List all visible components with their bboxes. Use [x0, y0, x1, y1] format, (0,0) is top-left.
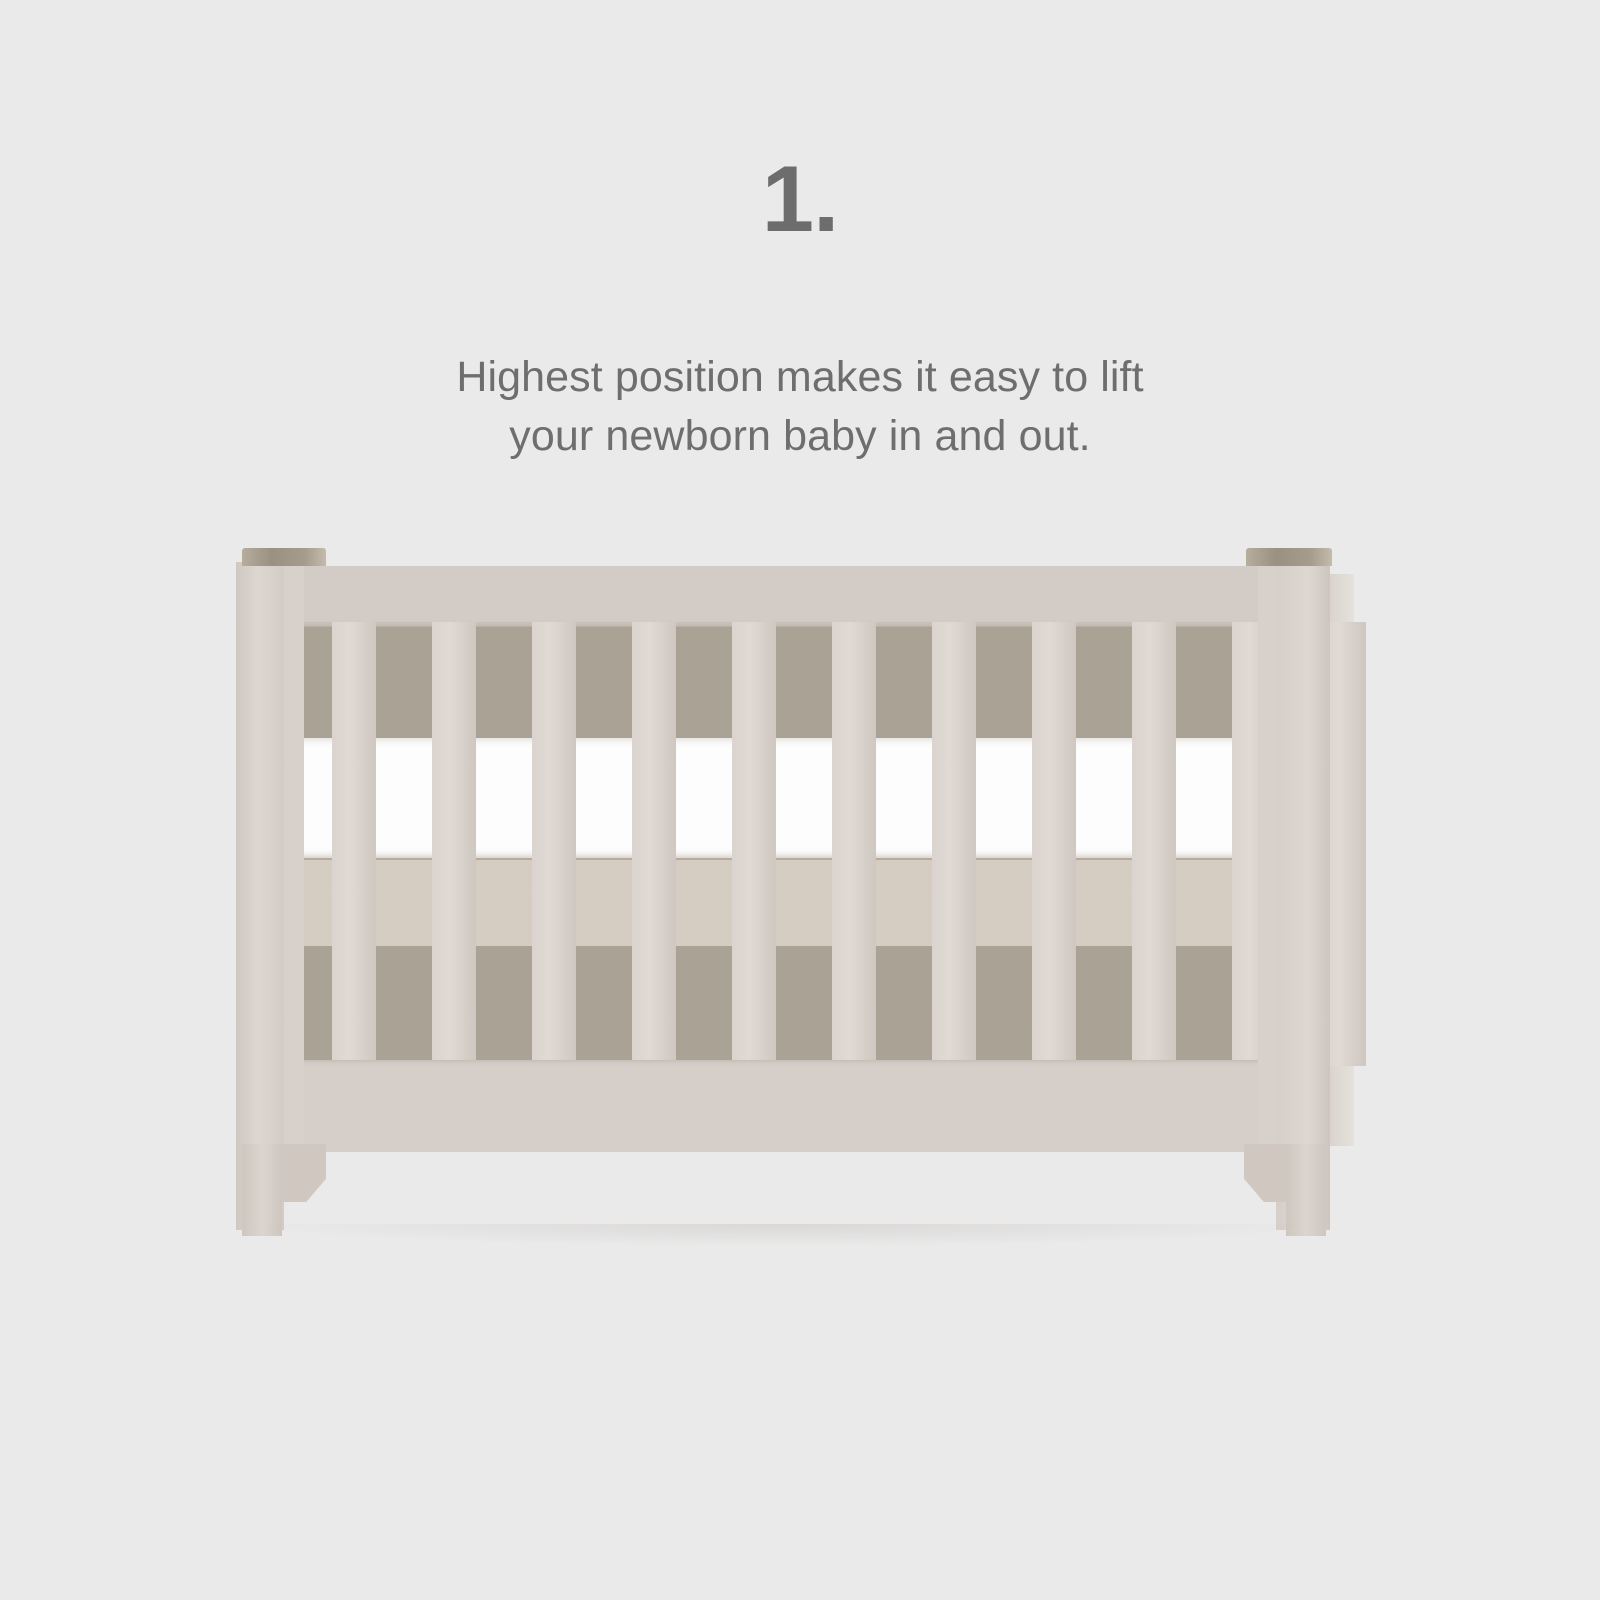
right-leg	[1286, 1144, 1326, 1236]
floor-shadow	[246, 1224, 1326, 1246]
front-slat	[1132, 622, 1176, 1066]
left-foot-bracket	[282, 1144, 326, 1202]
left-leg	[242, 1144, 282, 1236]
left-inner-rail	[284, 566, 304, 1152]
front-slat	[732, 622, 776, 1066]
front-slat	[432, 622, 476, 1066]
top-rail	[250, 566, 1325, 626]
caption-line-2: your newborn baby in and out.	[0, 407, 1600, 466]
front-slat	[632, 622, 676, 1066]
caption-line-1: Highest position makes it easy to lift	[0, 348, 1600, 407]
right-foot-bracket	[1244, 1144, 1288, 1202]
front-slat	[1032, 622, 1076, 1066]
step-caption: Highest position makes it easy to lift y…	[0, 348, 1600, 467]
right-inner-rail	[1258, 566, 1278, 1152]
left-post	[236, 562, 284, 1230]
page-canvas: 1. Highest position makes it easy to lif…	[0, 0, 1600, 1600]
cot-bed-image	[236, 548, 1336, 1238]
right-post	[1276, 562, 1330, 1230]
left-corner-cap-icon	[242, 548, 326, 566]
front-slat	[532, 622, 576, 1066]
front-slat	[832, 622, 876, 1066]
right-corner-cap-icon	[1246, 548, 1332, 566]
bottom-rail	[250, 1060, 1328, 1152]
front-slat	[932, 622, 976, 1066]
step-number: 1.	[0, 152, 1600, 246]
front-slat	[332, 622, 376, 1066]
